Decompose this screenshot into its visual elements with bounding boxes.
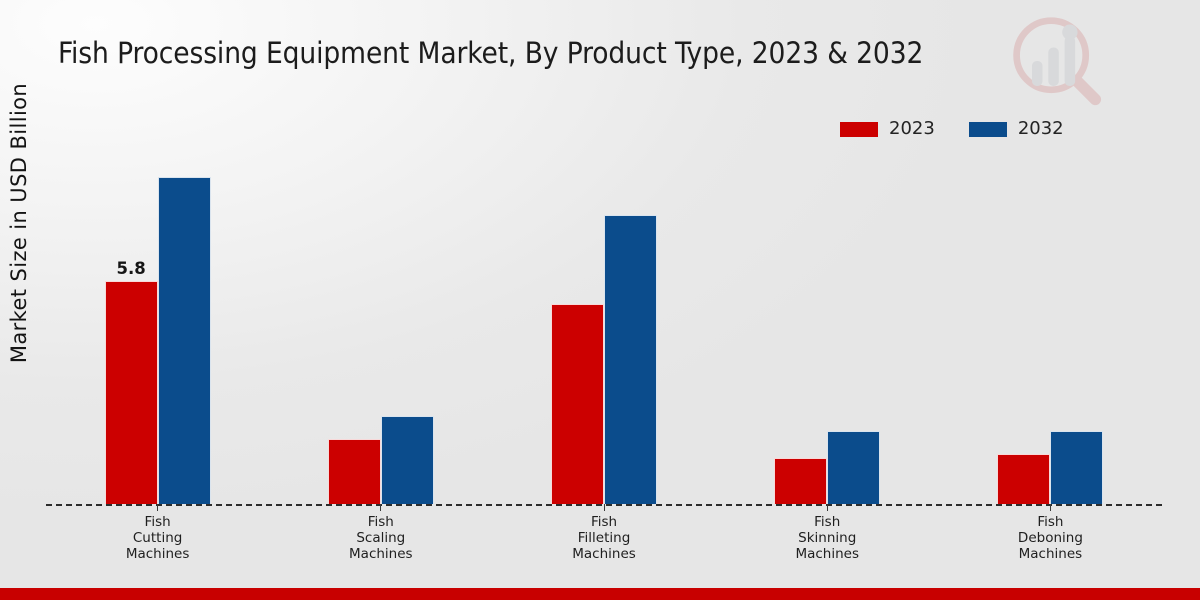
bar-2032-2[interactable] xyxy=(604,215,657,504)
category-label-2: Fish Filleting Machines xyxy=(572,514,636,562)
bar-groups: 5.8 xyxy=(46,150,1162,504)
plot-area: 5.8 xyxy=(46,150,1162,506)
chart-canvas: Fish Processing Equipment Market, By Pro… xyxy=(0,0,1200,600)
legend-label-2023: 2023 xyxy=(889,120,935,138)
bar-group-4 xyxy=(939,150,1162,504)
bar-2023-4[interactable] xyxy=(997,454,1050,504)
x-axis-tick-labels: Fish Cutting Machines Fish Scaling Machi… xyxy=(46,504,1162,588)
x-tick-3: Fish Skinning Machines xyxy=(716,504,939,588)
tick-mark-1 xyxy=(380,504,381,511)
legend-label-2032: 2032 xyxy=(1018,120,1064,138)
category-label-4: Fish Deboning Machines xyxy=(1018,514,1083,562)
legend-item-2023[interactable]: 2023 xyxy=(840,120,935,138)
tick-mark-3 xyxy=(827,504,828,511)
legend-swatch-2023 xyxy=(840,122,878,137)
bar-2032-0[interactable] xyxy=(158,177,211,504)
bar-2032-1[interactable] xyxy=(381,416,434,505)
y-axis-title: Market Size in USD Billion xyxy=(2,0,36,523)
bar-group-0: 5.8 xyxy=(46,150,269,504)
bar-2023-0[interactable]: 5.8 xyxy=(105,281,158,504)
legend-item-2032[interactable]: 2032 xyxy=(969,120,1064,138)
x-tick-0: Fish Cutting Machines xyxy=(46,504,269,588)
chart-title: Fish Processing Equipment Market, By Pro… xyxy=(58,36,923,70)
tick-mark-0 xyxy=(157,504,158,511)
bar-2023-2[interactable] xyxy=(551,304,604,504)
chart-legend: 2023 2032 xyxy=(840,120,1064,138)
bar-2023-3[interactable] xyxy=(774,458,827,504)
x-tick-1: Fish Scaling Machines xyxy=(269,504,492,588)
bar-group-3 xyxy=(716,150,939,504)
bar-group-1 xyxy=(269,150,492,504)
category-label-3: Fish Skinning Machines xyxy=(795,514,859,562)
bar-2032-4[interactable] xyxy=(1050,431,1103,504)
bar-value-2023-0: 5.8 xyxy=(116,259,145,278)
footer-accent-bar xyxy=(0,588,1200,600)
bar-2023-1[interactable] xyxy=(328,439,381,504)
x-tick-2: Fish Filleting Machines xyxy=(492,504,715,588)
bar-2032-3[interactable] xyxy=(827,431,880,504)
tick-mark-2 xyxy=(604,504,605,511)
bar-group-2 xyxy=(492,150,715,504)
category-label-1: Fish Scaling Machines xyxy=(349,514,413,562)
x-tick-4: Fish Deboning Machines xyxy=(939,504,1162,588)
legend-swatch-2032 xyxy=(969,122,1007,137)
watermark-logo-icon xyxy=(1007,13,1103,109)
tick-mark-4 xyxy=(1050,504,1051,511)
category-label-0: Fish Cutting Machines xyxy=(126,514,190,562)
